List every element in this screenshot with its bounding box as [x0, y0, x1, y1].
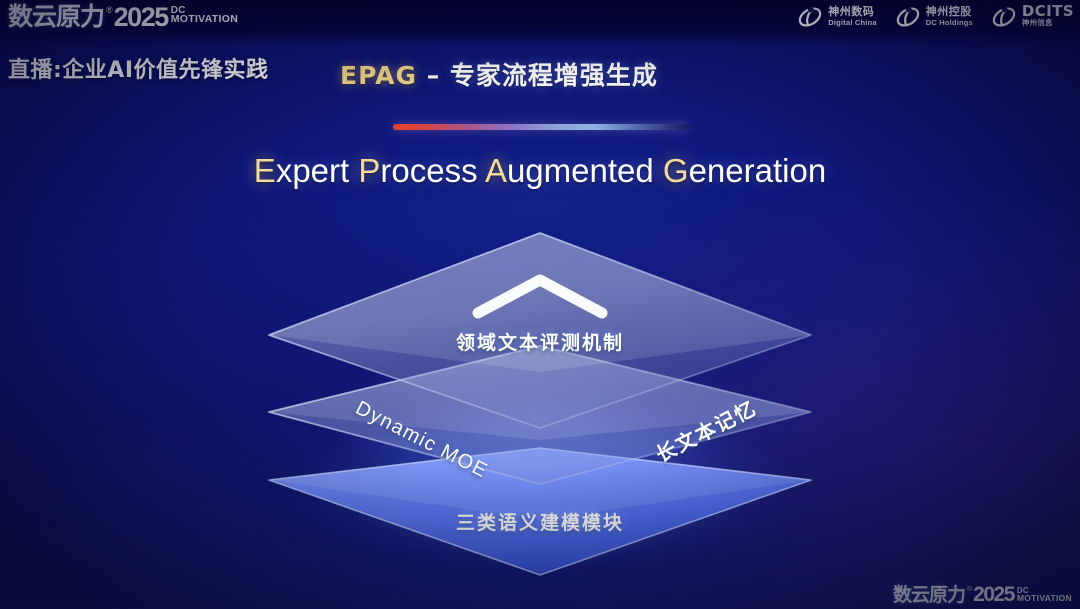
partner-logo-bar: 神州数码 Digital China 神州控股 DC Holdings — [797, 4, 1074, 30]
registered-mark: ® — [106, 4, 113, 16]
title-dash: – — [417, 61, 450, 90]
layered-architecture-diagram: 领域文本评测机制 Dynamic MOE 长文本记忆 三类语义建模模块 — [255, 222, 825, 594]
title-divider — [393, 124, 689, 130]
diagram-shapes — [255, 222, 825, 594]
partner-name-en: Digital China — [828, 17, 876, 28]
word4-rest: eneration — [689, 152, 827, 189]
swirl-logo-icon — [797, 4, 823, 30]
word3-rest: ugmented — [507, 152, 654, 189]
partner-logo-dcits: DCITS 神州信息 — [991, 4, 1074, 30]
event-logo-year: 2025 — [114, 4, 168, 30]
partner-name-cn: 神州数码 — [828, 6, 876, 17]
word2-cap: P — [358, 152, 380, 189]
space1 — [349, 152, 358, 189]
word3-cap: A — [485, 152, 507, 189]
event-logo: 数云原力 ® 2025 DC MOTIVATION — [8, 4, 238, 30]
space3 — [654, 152, 663, 189]
partner-text: DCITS 神州信息 — [1022, 6, 1074, 28]
footer-watermark-logo: 数云原力 ® 2025 DC MOTIVATION — [893, 585, 1072, 605]
watermark-logo-motivation: MOTIVATION — [1017, 595, 1072, 603]
title-abbr: EPAG — [340, 61, 417, 90]
word1-cap: E — [254, 152, 276, 189]
partner-text: 神州控股 DC Holdings — [926, 6, 973, 28]
event-logo-cn: 数云原力 — [8, 4, 104, 30]
watermark-logo-year: 2025 — [973, 585, 1014, 605]
title-cn-text: 专家流程增强生成 — [450, 61, 658, 90]
partner-text: 神州数码 Digital China — [828, 6, 876, 28]
swirl-logo-icon — [991, 4, 1017, 30]
word4-cap: G — [663, 152, 689, 189]
watermark-registered-mark: ® — [967, 585, 972, 594]
partner-logo-dc-holdings: 神州控股 DC Holdings — [895, 4, 973, 30]
word2-rest: rocess — [380, 152, 477, 189]
event-logo-dcm: DC MOTIVATION — [171, 6, 238, 24]
partner-name-en: DC Holdings — [926, 17, 973, 28]
partner-name-cn: 神州控股 — [926, 6, 973, 17]
slide-canvas: 数云原力 ® 2025 DC MOTIVATION 直播:企业AI价值先锋实践 … — [0, 0, 1080, 609]
word1-rest: xpert — [276, 152, 349, 189]
partner-name-en: 神州信息 — [1022, 17, 1074, 28]
partner-name-cn: DCITS — [1022, 6, 1074, 17]
livestream-subtitle: 直播:企业AI价值先锋实践 — [8, 52, 269, 84]
partner-logo-digital-china: 神州数码 Digital China — [797, 4, 876, 30]
watermark-logo-dcm: DC MOTIVATION — [1017, 587, 1072, 602]
page-title-english: Expert Process Augmented Generation — [0, 152, 1080, 190]
space2 — [478, 152, 485, 189]
event-logo-motivation: MOTIVATION — [171, 15, 238, 24]
page-title: EPAG – 专家流程增强生成 — [340, 56, 658, 92]
watermark-logo-cn: 数云原力 — [893, 585, 965, 605]
swirl-logo-icon — [895, 4, 921, 30]
